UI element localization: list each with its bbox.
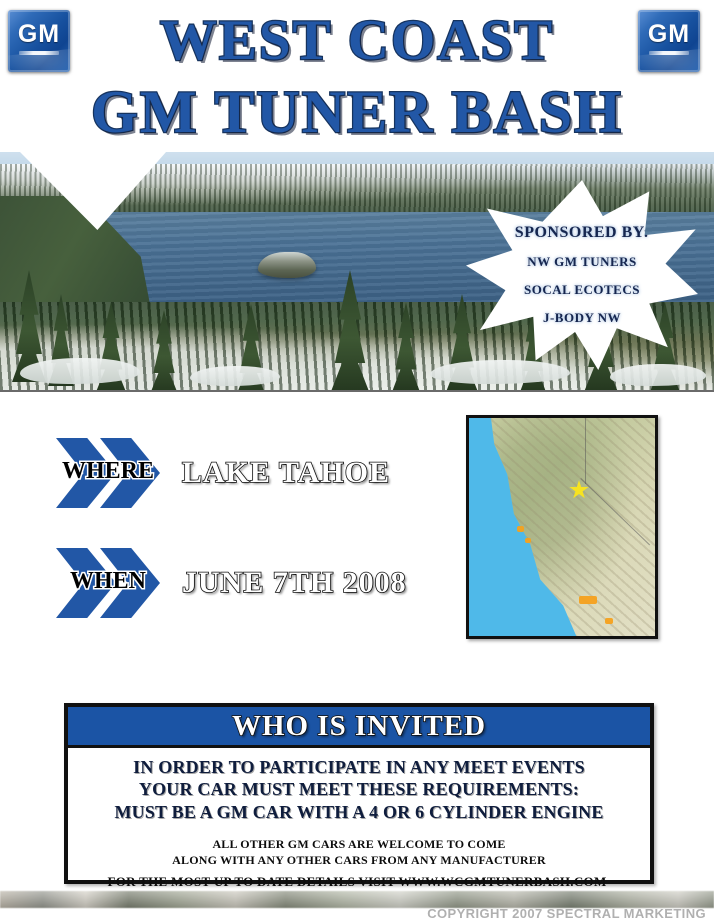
poster-header: GM GM WEST COAST GM TUNER BASH bbox=[0, 0, 714, 152]
map-city-marker bbox=[605, 618, 613, 624]
footer-copyright: COPYRIGHT 2007 SPECTRAL MARKETING bbox=[427, 906, 706, 921]
who-is-invited-title: WHO IS INVITED bbox=[232, 712, 486, 741]
note-line: ALONG WITH ANY OTHER CARS FROM ANY MANUF… bbox=[74, 853, 644, 869]
gm-logo-underline bbox=[19, 51, 59, 55]
map-state-border bbox=[585, 418, 586, 484]
where-arrow-group: WHERE bbox=[56, 438, 160, 508]
map-city-marker bbox=[579, 596, 597, 604]
gm-logo-icon: GM bbox=[638, 10, 700, 72]
page-title-line-1: WEST COAST bbox=[74, 12, 640, 69]
map-city-marker bbox=[517, 526, 524, 532]
photo-snow-patch bbox=[20, 358, 140, 384]
requirement-line: YOUR CAR MUST MEET THESE REQUIREMENTS: bbox=[74, 778, 644, 800]
who-is-invited-body: IN ORDER TO PARTICIPATE IN ANY MEET EVEN… bbox=[68, 748, 650, 880]
where-value: LAKE TAHOE bbox=[182, 456, 390, 490]
photo-snow-patch bbox=[430, 360, 570, 384]
gm-logo-icon: GM bbox=[8, 10, 70, 72]
sponsor-name: NW GM TUNERS bbox=[466, 254, 698, 270]
photo-snow-patch bbox=[610, 364, 706, 386]
detail-row-when: WHEN JUNE 7TH 2008 bbox=[56, 548, 407, 618]
when-arrow-group: WHEN bbox=[56, 548, 160, 618]
page-title-line-2: GM TUNER BASH bbox=[40, 82, 674, 142]
note-line: ALL OTHER GM CARS ARE WELCOME TO COME bbox=[74, 837, 644, 853]
photo-fannette-island bbox=[258, 252, 316, 278]
requirement-line: IN ORDER TO PARTICIPATE IN ANY MEET EVEN… bbox=[74, 756, 644, 778]
gm-logo-text: GM bbox=[8, 22, 70, 47]
when-value: JUNE 7TH 2008 bbox=[182, 566, 407, 600]
california-nevada-map bbox=[466, 415, 658, 639]
when-label: WHEN bbox=[56, 569, 160, 593]
footer-website-line: FOR THE MOST UP TO DATE DETAILS VISIT WW… bbox=[0, 874, 714, 890]
gm-logo-text: GM bbox=[638, 22, 700, 47]
where-label: WHERE bbox=[56, 459, 160, 483]
detail-row-where: WHERE LAKE TAHOE bbox=[56, 438, 390, 508]
gm-logo-underline bbox=[649, 51, 689, 55]
map-city-marker bbox=[525, 538, 531, 543]
photo-snow-patch bbox=[190, 366, 280, 386]
requirement-line: MUST BE A GM CAR WITH A 4 OR 6 CYLINDER … bbox=[74, 801, 644, 823]
who-is-invited-header: WHO IS INVITED bbox=[68, 707, 650, 748]
who-is-invited-box: WHO IS INVITED IN ORDER TO PARTICIPATE I… bbox=[64, 703, 654, 884]
who-is-invited-notes: ALL OTHER GM CARS ARE WELCOME TO COME AL… bbox=[74, 837, 644, 868]
